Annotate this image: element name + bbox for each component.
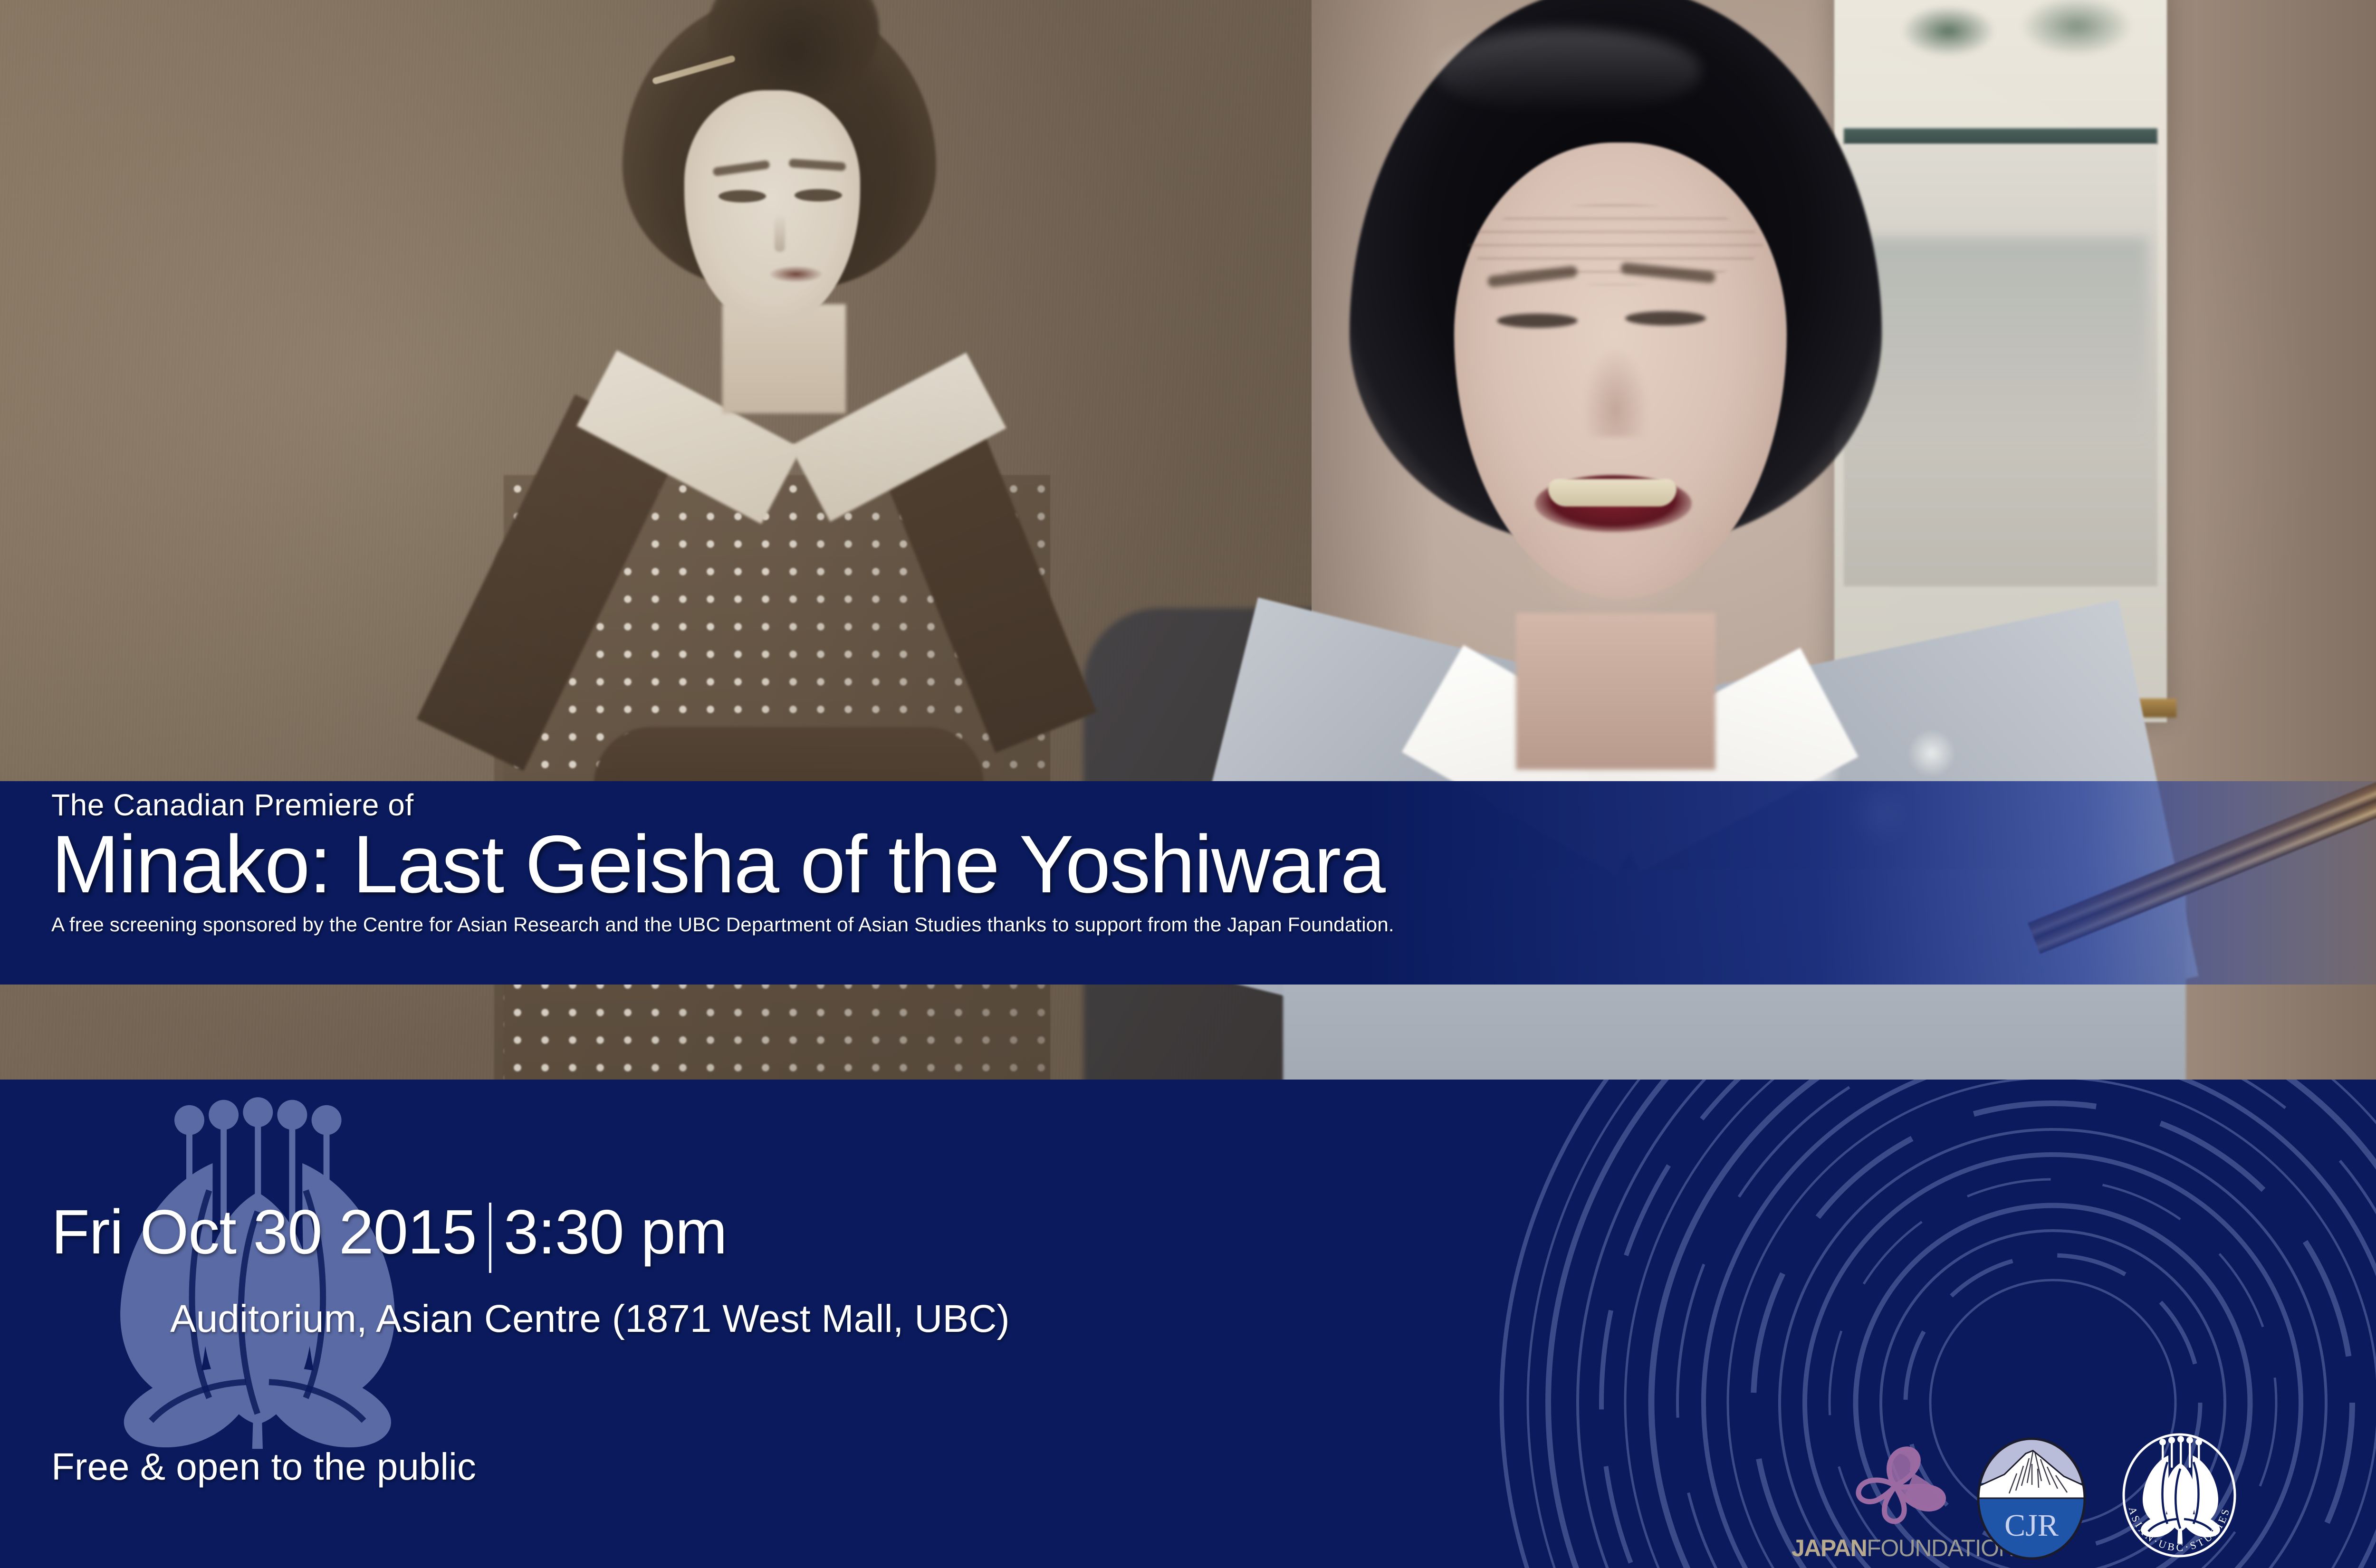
minako-chin: [1525, 523, 1701, 618]
cjr-initials: CJR: [2004, 1508, 2059, 1543]
event-date: Fri Oct 30 2015: [51, 1201, 477, 1263]
sponsor-logos: JAPANFOUNDATION: [1792, 1434, 2376, 1560]
poster-root: The Canadian Premiere of Minako: Last Ge…: [0, 0, 2376, 1568]
minako-eye: [1497, 314, 1578, 328]
minako-teeth: [1548, 479, 1677, 507]
sponsor-line: A free screening sponsored by the Centre…: [51, 914, 2237, 936]
date-time-row: Fri Oct 30 2015 3:30 pm: [51, 1201, 1453, 1273]
japan-foundation-butterfly-icon: [1839, 1442, 1948, 1525]
date-time-divider: [489, 1203, 491, 1273]
event-details: Fri Oct 30 2015 3:30 pm Auditorium, Asia…: [51, 1201, 1453, 1340]
scroll-mounting-band: [1844, 128, 2157, 144]
minako-neck: [1516, 613, 1715, 770]
title-band-content: The Canadian Premiere of Minako: Last Ge…: [51, 790, 2237, 936]
scroll-ink-brushstroke: [1901, 5, 1996, 57]
ubc-asian-studies-logo: ASIAN·UBC·STUDIES: [2115, 1431, 2243, 1560]
page-title: Minako: Last Geisha of the Yoshiwara: [51, 823, 2237, 906]
minako-hair-sheen: [1435, 29, 1701, 114]
minako-nose: [1582, 347, 1649, 437]
japan-foundation-word-bold: JAPAN: [1792, 1535, 1867, 1561]
scroll-ink-wash: [1853, 238, 2148, 442]
minako-eye: [1625, 311, 1706, 325]
cjr-logo: CJR: [1976, 1437, 2088, 1560]
japan-foundation-wordmark: JAPANFOUNDATION: [1792, 1536, 1948, 1560]
title-band: The Canadian Premiere of Minako: Last Ge…: [0, 781, 2376, 985]
japan-foundation-logo: JAPANFOUNDATION: [1792, 1442, 1948, 1560]
kimono-embroidery: [1906, 727, 1958, 779]
premiere-eyebrow: The Canadian Premiere of: [51, 790, 2237, 820]
event-venue: Auditorium, Asian Centre (1871 West Mall…: [170, 1298, 1453, 1340]
event-time: 3:30 pm: [504, 1201, 727, 1263]
admission-note: Free & open to the public: [51, 1446, 476, 1488]
scroll-ink-brushstroke: [2020, 0, 2134, 57]
